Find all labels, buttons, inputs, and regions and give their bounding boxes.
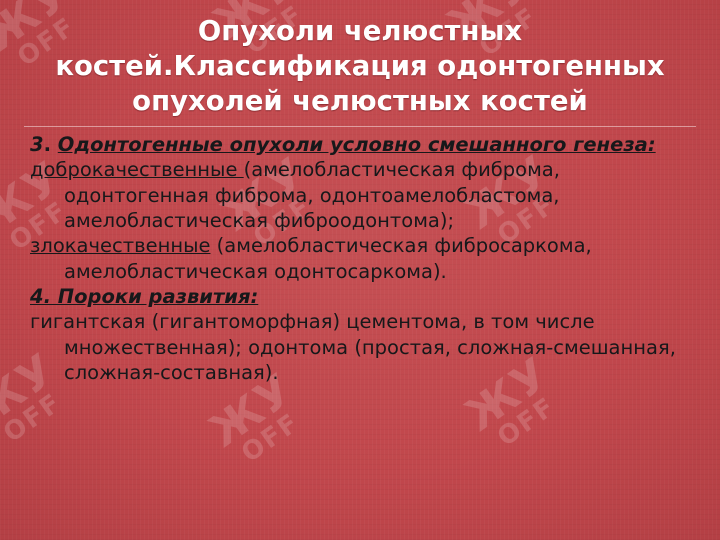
item4-heading: 4. Пороки развития: (30, 285, 258, 308)
benign-label: доброкачественные (30, 158, 244, 181)
list-item: 4. Пороки развития: (30, 284, 690, 309)
slide: ЖУ OFF ЖУ OFF ЖУ OFF ЖУ OFF ЖУ OFF ЖУ OF… (0, 0, 720, 540)
page-title: Опухоли челюстных костей.Классификация о… (24, 14, 696, 120)
title-line-1: Опухоли челюстных (24, 14, 696, 49)
item4-text: гигантская (гигантоморфная) цементома, в… (30, 310, 676, 384)
watermark-line2: OFF (0, 382, 77, 454)
title-line-2: костей.Классификация одонтогенных (24, 49, 696, 84)
list-item: гигантская (гигантоморфная) цементома, в… (30, 309, 690, 385)
malignant-label: злокачественные (30, 234, 210, 257)
slide-title-block: Опухоли челюстных костей.Классификация о… (24, 14, 696, 127)
item3-number: 3 (30, 133, 44, 156)
watermark-line2: OFF (483, 386, 571, 458)
title-divider (24, 126, 696, 127)
watermark-line2: OFF (227, 402, 315, 474)
item3-separator: . (44, 133, 58, 156)
list-item: злокачественные (амелобластическая фибро… (30, 233, 690, 284)
slide-body: 3. Одонтогенные опухоли условно смешанно… (30, 132, 690, 385)
item3-heading: Одонтогенные опухоли условно смешанного … (58, 133, 656, 156)
list-item: 3. Одонтогенные опухоли условно смешанно… (30, 132, 690, 157)
list-item: доброкачественные (амелобластическая фиб… (30, 157, 690, 233)
title-line-3: опухолей челюстных костей (24, 84, 696, 119)
